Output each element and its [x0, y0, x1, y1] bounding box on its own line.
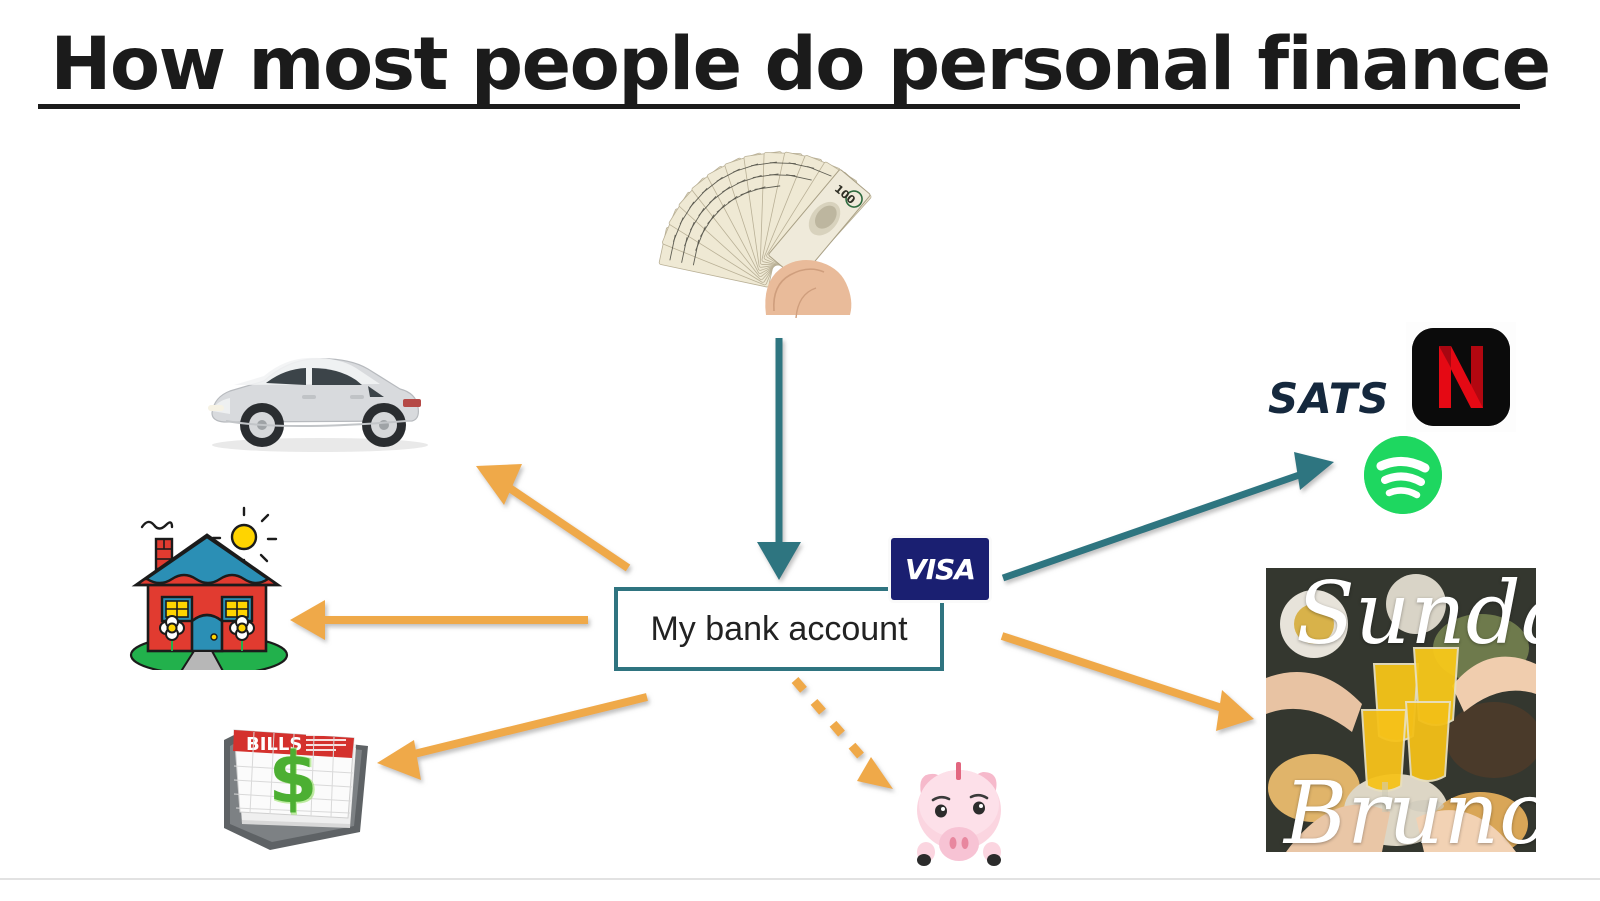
visa-label: VISA [905, 553, 975, 586]
car-illustration [198, 337, 443, 455]
arrow-bank-to-brunch [1002, 636, 1254, 731]
piggy-bank-photo [895, 748, 1023, 868]
arrow-bank-to-savings [795, 680, 893, 789]
slide-canvas: How most people do personal finance [0, 0, 1600, 878]
arrow-visa-to-streaming [1003, 452, 1334, 578]
bank-account-label: My bank account [650, 610, 907, 649]
netflix-n-icon [1412, 328, 1510, 426]
arrow-income-to-bank [757, 338, 801, 580]
hand-holding-cash-photo: 100 [646, 143, 913, 318]
netflix-logo-tile[interactable] [1406, 322, 1516, 432]
arrow-bank-to-house [290, 600, 588, 640]
brunch-overlay-line1: Sunday [1296, 568, 1536, 664]
bills-calendar-icon: BILLS $ $ [210, 700, 380, 860]
spotify-logo[interactable] [1364, 436, 1442, 514]
cartoon-house-clipart [124, 505, 294, 670]
silver-car-photo [198, 337, 443, 455]
sunday-brunch-photo[interactable]: Sunday Brunch [1266, 568, 1536, 852]
house-illustration [124, 505, 294, 670]
visa-logo[interactable]: VISA [891, 538, 989, 600]
sats-gym-logo[interactable]: SATS [1268, 374, 1390, 423]
arrow-bank-to-car [476, 464, 628, 568]
svg-text:$: $ [269, 737, 318, 819]
bills-calendar-illustration: BILLS $ $ [210, 700, 380, 860]
piggy-bank-illustration [895, 748, 1023, 868]
arrow-bank-to-bills [377, 697, 647, 780]
slide-bottom-bar [0, 878, 1600, 901]
netflix-logo [1412, 328, 1510, 426]
spotify-icon [1364, 436, 1442, 514]
cash-fan-illustration: 100 [646, 143, 913, 318]
brunch-overlay-line2: Brunch [1284, 764, 1536, 852]
